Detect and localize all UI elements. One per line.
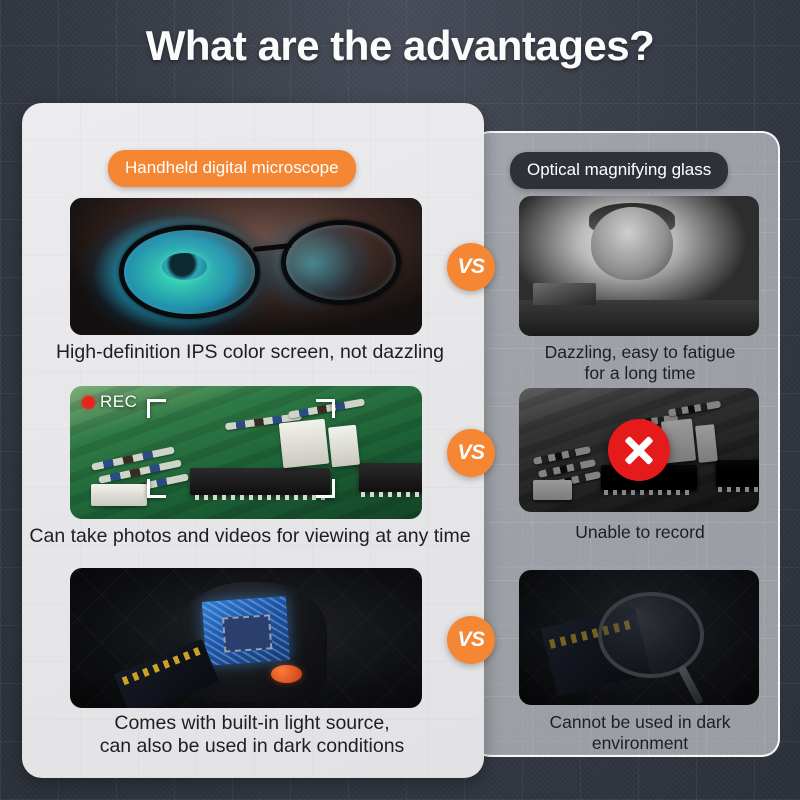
vs-badge-row1: VS [447, 243, 495, 291]
badge-handheld-digital-microscope: Handheld digital microscope [108, 150, 356, 187]
caption-left-row2: Can take photos and videos for viewing a… [24, 525, 476, 548]
caption-right-row2: Unable to record [506, 522, 774, 543]
rec-indicator-dot-icon [82, 396, 95, 409]
caption-right-row1: Dazzling, easy to fatigue for a long tim… [506, 342, 774, 383]
photo-magnifier-dark [519, 570, 759, 705]
blocked-x-icon [608, 419, 670, 481]
vs-badge-row3: VS [447, 616, 495, 664]
photo-circuit-board-recording: REC [70, 386, 422, 519]
vs-badge-row2: VS [447, 429, 495, 477]
caption-left-row3: Comes with built-in light source, can al… [54, 712, 450, 758]
caption-right-row3-line1: Cannot be used in dark [506, 712, 774, 733]
caption-right-row3-line2: environment [506, 733, 774, 754]
photo-glasses-blue-screen-reflection [70, 198, 422, 335]
rec-indicator-label: REC [100, 392, 137, 412]
caption-right-row1-line2: for a long time [506, 363, 774, 384]
photo-man-eye-fatigue-grayscale [519, 196, 759, 336]
page-title: What are the advantages? [0, 22, 800, 70]
caption-right-row1-line1: Dazzling, easy to fatigue [506, 342, 774, 363]
caption-left-row1: High-definition IPS color screen, not da… [40, 341, 460, 364]
badge-optical-magnifying-glass: Optical magnifying glass [510, 152, 728, 189]
caption-left-row3-line2: can also be used in dark conditions [54, 735, 450, 758]
photo-device-lit-screen-dark [70, 568, 422, 708]
caption-left-row3-line1: Comes with built-in light source, [54, 712, 450, 735]
caption-right-row3: Cannot be used in dark environment [506, 712, 774, 753]
photo-circuit-board-grayscale-blocked [519, 388, 759, 512]
